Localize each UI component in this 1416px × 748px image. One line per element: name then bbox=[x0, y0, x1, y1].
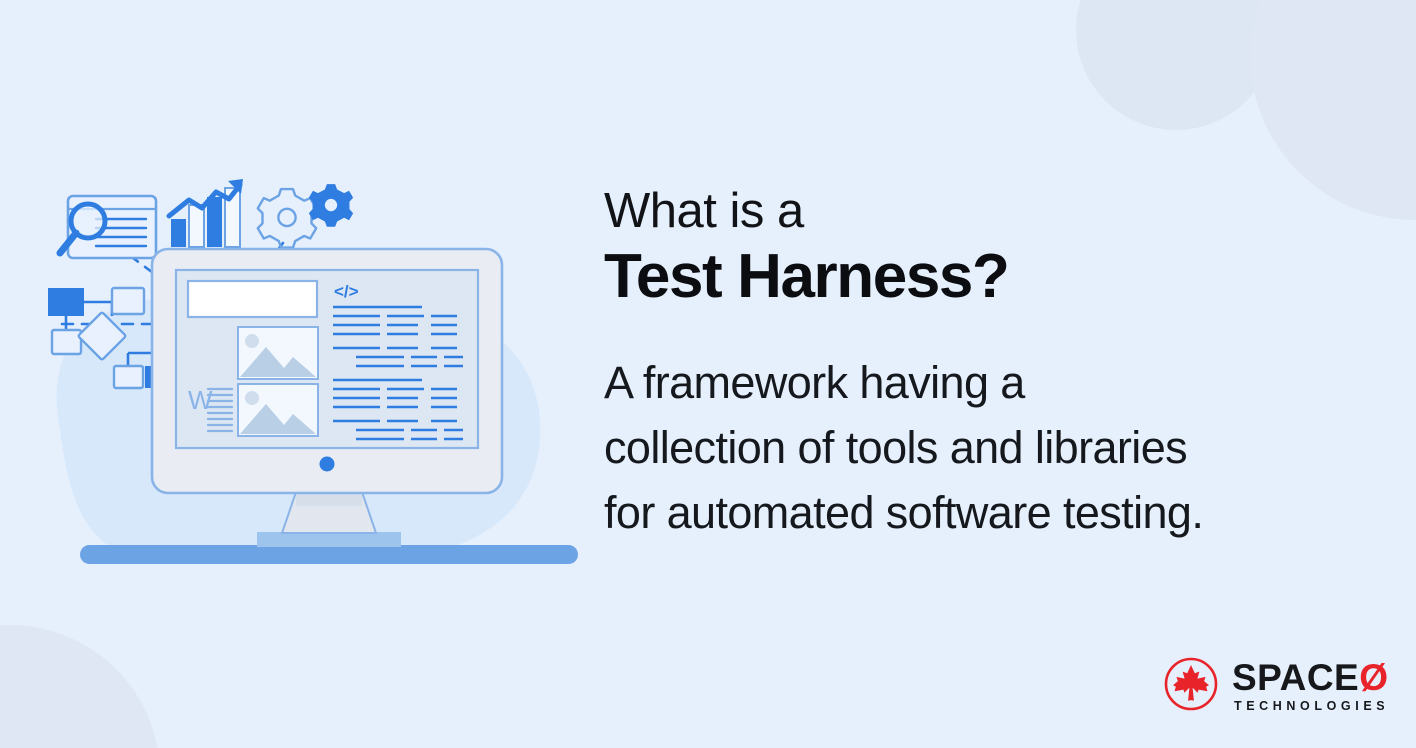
description-text: A framework having a collection of tools… bbox=[604, 350, 1394, 545]
maple-leaf-circle-icon bbox=[1163, 656, 1219, 717]
logo-tagline: TECHNOLOGIES bbox=[1234, 699, 1389, 713]
logo-name: SPACEØ bbox=[1232, 659, 1389, 696]
screen-input-box bbox=[188, 281, 317, 317]
monitor-base-plate bbox=[257, 532, 401, 547]
search-window-icon bbox=[60, 196, 156, 258]
decorative-circle-top-small bbox=[1076, 0, 1276, 130]
image-placeholder-upper bbox=[238, 327, 318, 379]
logo-name-main: SPACE bbox=[1232, 659, 1359, 696]
description-line-2: collection of tools and libraries bbox=[604, 415, 1394, 480]
software-testing-illustration: W </> bbox=[0, 0, 600, 748]
page-title: Test Harness? bbox=[604, 240, 1394, 314]
monitor-power-indicator bbox=[320, 457, 335, 472]
description-line-1: A framework having a bbox=[604, 350, 1394, 415]
monitor-ground-bar bbox=[80, 545, 578, 564]
eyebrow-text: What is a bbox=[604, 183, 1394, 240]
spaceo-logo[interactable]: SPACEØ TECHNOLOGIES bbox=[1163, 655, 1395, 717]
logo-name-accent-o: Ø bbox=[1359, 659, 1388, 696]
flowchart-node-primary bbox=[48, 288, 84, 316]
banner-root: W </> bbox=[0, 0, 1416, 748]
image-placeholder-lower bbox=[238, 384, 318, 436]
text-column: What is a Test Harness? A framework havi… bbox=[604, 183, 1394, 545]
code-icon: </> bbox=[334, 282, 359, 301]
description-line-3: for automated software testing. bbox=[604, 480, 1394, 545]
gears-icon bbox=[258, 184, 353, 247]
bar-chart-growth-icon bbox=[169, 179, 243, 247]
logo-wordmark: SPACEØ TECHNOLOGIES bbox=[1232, 659, 1389, 713]
